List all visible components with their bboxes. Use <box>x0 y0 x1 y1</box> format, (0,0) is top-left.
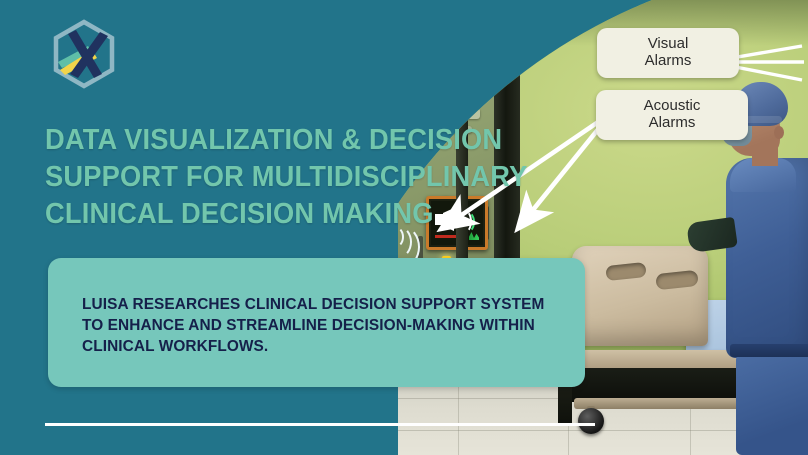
pipe <box>406 108 480 119</box>
poster-canvas: Visual Alarms Acoustic Alarms DATA VISUA… <box>0 0 808 455</box>
clinician-ear <box>774 126 784 139</box>
hexagon-x-logo[interactable] <box>48 18 120 90</box>
clinician-legs <box>736 354 808 455</box>
callout-acoustic-line1: Acoustic <box>612 98 732 115</box>
clinician-belt <box>730 344 808 357</box>
title-line-1: DATA VISUALIZATION & DECISION <box>45 122 440 159</box>
callout-visual-alarms: Visual Alarms <box>597 28 739 78</box>
bed-headboard <box>572 246 708 346</box>
callout-visual-line1: Visual <box>613 36 723 53</box>
page-title: DATA VISUALIZATION & DECISION SUPPORT FO… <box>45 122 440 233</box>
headboard-slot <box>605 262 646 281</box>
title-line-2: SUPPORT FOR MULTIDISCIPLINARY <box>45 159 440 196</box>
speaker-cone <box>443 208 454 231</box>
callout-acoustic-alarms: Acoustic Alarms <box>596 90 748 140</box>
bed-caster-wheel <box>578 408 604 434</box>
callout-visual-line2: Alarms <box>613 53 723 70</box>
description-text: LUISA RESEARCHES CLINICAL DECISION SUPPO… <box>82 294 551 357</box>
title-line-3: CLINICAL DECISION MAKING <box>45 196 440 233</box>
bottom-divider <box>45 423 595 426</box>
description-card: LUISA RESEARCHES CLINICAL DECISION SUPPO… <box>48 258 585 387</box>
callout-acoustic-line2: Alarms <box>612 115 732 132</box>
headboard-slot <box>655 270 698 290</box>
